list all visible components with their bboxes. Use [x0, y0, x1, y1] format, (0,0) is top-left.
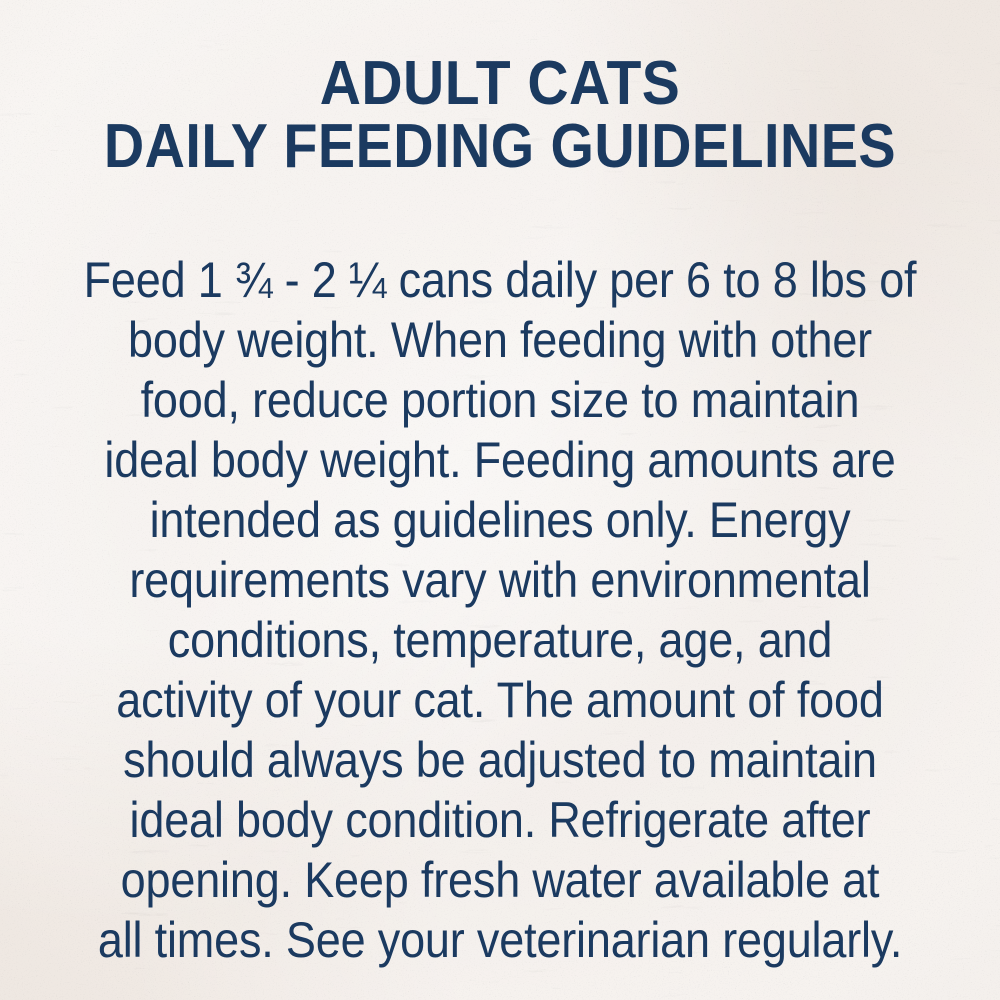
instruction-line: food, reduce portion size to maintain	[50, 370, 950, 430]
instruction-line: opening. Keep fresh water available at	[50, 850, 950, 910]
instruction-line: all times. See your veterinarian regular…	[50, 910, 950, 970]
guidelines-content: ADULT CATS DAILY FEEDING GUIDELINES Feed…	[0, 0, 1000, 1000]
instruction-line: body weight. When feeding with other	[50, 310, 950, 370]
instruction-line: should always be adjusted to maintain	[50, 730, 950, 790]
instruction-line: ideal body weight. Feeding amounts are	[50, 430, 950, 490]
feeding-instructions-text: Feed 1 ¾ - 2 ¼ cans daily per 6 to 8 lbs…	[0, 250, 1000, 970]
page-title: ADULT CATS DAILY FEEDING GUIDELINES	[0, 52, 1000, 178]
instruction-line: requirements vary with environmental	[50, 550, 950, 610]
instruction-line: conditions, temperature, age, and	[50, 610, 950, 670]
page-title-line-2: DAILY FEEDING GUIDELINES	[50, 115, 950, 178]
page-title-line-1: ADULT CATS	[40, 52, 960, 115]
feeding-guidelines-panel: ADULT CATS DAILY FEEDING GUIDELINES Feed…	[0, 0, 1000, 1000]
instruction-line: activity of your cat. The amount of food	[50, 670, 950, 730]
instruction-line: Feed 1 ¾ - 2 ¼ cans daily per 6 to 8 lbs…	[50, 250, 950, 310]
instruction-line: intended as guidelines only. Energy	[50, 490, 950, 550]
instruction-line: ideal body condition. Refrigerate after	[50, 790, 950, 850]
